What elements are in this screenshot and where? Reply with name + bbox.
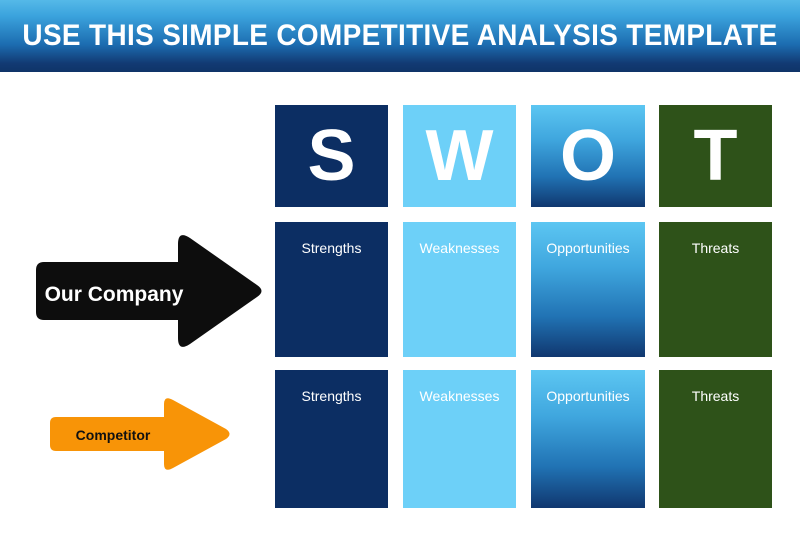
cell-label: Weaknesses	[403, 240, 516, 257]
letter-o: O	[560, 120, 616, 192]
arrow-label: Competitor	[46, 428, 232, 442]
competitor-opportunities-cell[interactable]: Opportunities	[531, 370, 645, 508]
letter-w: W	[426, 120, 494, 192]
competitor-row: Strengths Weaknesses Opportunities Threa…	[275, 370, 772, 508]
our-company-opportunities-cell[interactable]: Opportunities	[531, 222, 645, 357]
competitor-strengths-cell[interactable]: Strengths	[275, 370, 388, 508]
cell-label: Opportunities	[531, 240, 645, 257]
letter-s: S	[307, 120, 355, 192]
our-company-threats-cell[interactable]: Threats	[659, 222, 772, 357]
our-company-strengths-cell[interactable]: Strengths	[275, 222, 388, 357]
arrow-label: Our Company	[28, 284, 264, 305]
competitor-arrow[interactable]: Competitor	[46, 395, 232, 473]
swot-letter-w-cell: W	[403, 105, 516, 207]
cell-label: Opportunities	[531, 388, 645, 405]
our-company-weaknesses-cell[interactable]: Weaknesses	[403, 222, 516, 357]
cell-label: Threats	[659, 240, 772, 257]
header-banner: USE THIS SIMPLE COMPETITIVE ANALYSIS TEM…	[0, 0, 800, 72]
cell-label: Threats	[659, 388, 772, 405]
cell-label: Strengths	[275, 388, 388, 405]
swot-grid: S W O T Strengths Weaknesses Opportuniti…	[275, 105, 772, 508]
cell-label: Weaknesses	[403, 388, 516, 405]
letter-t: T	[694, 120, 738, 192]
cell-label: Strengths	[275, 240, 388, 257]
swot-letter-o-cell: O	[531, 105, 645, 207]
swot-letter-t-cell: T	[659, 105, 772, 207]
competitor-threats-cell[interactable]: Threats	[659, 370, 772, 508]
swot-letter-s-cell: S	[275, 105, 388, 207]
our-company-row: Strengths Weaknesses Opportunities Threa…	[275, 222, 772, 357]
competitor-weaknesses-cell[interactable]: Weaknesses	[403, 370, 516, 508]
page-title: USE THIS SIMPLE COMPETITIVE ANALYSIS TEM…	[22, 21, 777, 51]
swot-letters-row: S W O T	[275, 105, 772, 207]
our-company-arrow[interactable]: Our Company	[28, 228, 264, 354]
